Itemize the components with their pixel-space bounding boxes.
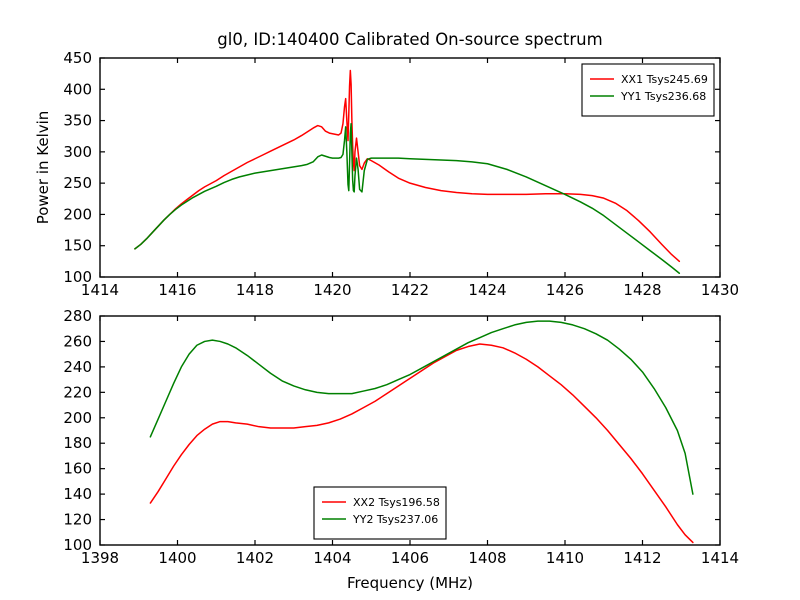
x-tick-label: 1424 bbox=[468, 281, 506, 299]
spectrum-figure: gl0, ID:140400 Calibrated On-source spec… bbox=[0, 0, 800, 600]
x-tick-label: 1416 bbox=[158, 281, 196, 299]
y-tick-label: 300 bbox=[63, 143, 92, 161]
figure-canvas: gl0, ID:140400 Calibrated On-source spec… bbox=[0, 0, 800, 600]
x-tick-label: 1412 bbox=[623, 549, 661, 567]
bottom-panel: 1398140014021404140614081410141214141001… bbox=[63, 307, 739, 592]
top-panel: 1414141614181420142214241426142814301001… bbox=[34, 49, 739, 299]
y-tick-label: 180 bbox=[63, 434, 92, 452]
y-tick-label: 450 bbox=[63, 49, 92, 67]
x-tick-label: 1408 bbox=[468, 549, 506, 567]
y-tick-label: 280 bbox=[63, 307, 92, 325]
y-tick-label: 240 bbox=[63, 358, 92, 376]
y-tick-label: 160 bbox=[63, 460, 92, 478]
x-tick-label: 1422 bbox=[391, 281, 429, 299]
page-title: gl0, ID:140400 Calibrated On-source spec… bbox=[217, 30, 602, 49]
y-tick-label: 120 bbox=[63, 511, 92, 529]
legend-label: XX2 Tsys196.58 bbox=[353, 496, 440, 509]
y-tick-label: 200 bbox=[63, 409, 92, 427]
legend: XX2 Tsys196.58YY2 Tsys237.06 bbox=[314, 487, 446, 539]
y-tick-label: 350 bbox=[63, 112, 92, 130]
x-tick-label: 1404 bbox=[313, 549, 351, 567]
x-tick-label: 1428 bbox=[623, 281, 661, 299]
x-tick-label: 1414 bbox=[701, 549, 739, 567]
legend: XX1 Tsys245.69YY1 Tsys236.68 bbox=[582, 64, 714, 116]
x-tick-label: 1420 bbox=[313, 281, 351, 299]
x-tick-label: 1402 bbox=[236, 549, 274, 567]
legend-label: YY2 Tsys237.06 bbox=[352, 513, 438, 526]
x-axis-label: Frequency (MHz) bbox=[347, 574, 473, 592]
y-tick-label: 100 bbox=[63, 536, 92, 554]
x-tick-label: 1418 bbox=[236, 281, 274, 299]
y-tick-label: 100 bbox=[63, 268, 92, 286]
y-tick-label: 260 bbox=[63, 332, 92, 350]
y-tick-label: 220 bbox=[63, 383, 92, 401]
x-tick-label: 1406 bbox=[391, 549, 429, 567]
legend-label: XX1 Tsys245.69 bbox=[621, 73, 708, 86]
x-tick-label: 1400 bbox=[158, 549, 196, 567]
y-tick-label: 200 bbox=[63, 205, 92, 223]
x-tick-label: 1430 bbox=[701, 281, 739, 299]
x-tick-label: 1426 bbox=[546, 281, 584, 299]
y-axis-label: Power in Kelvin bbox=[34, 111, 52, 225]
y-tick-label: 150 bbox=[63, 237, 92, 255]
y-tick-label: 250 bbox=[63, 174, 92, 192]
x-tick-label: 1410 bbox=[546, 549, 584, 567]
y-tick-label: 400 bbox=[63, 80, 92, 98]
legend-label: YY1 Tsys236.68 bbox=[620, 90, 706, 103]
y-tick-label: 140 bbox=[63, 485, 92, 503]
